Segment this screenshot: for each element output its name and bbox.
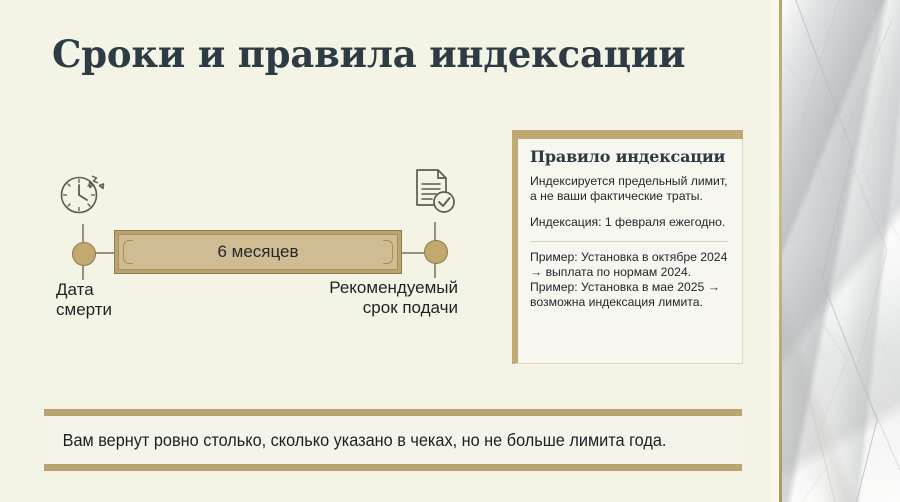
- timeline-end-caption-line1: Рекомендуемый: [252, 278, 458, 298]
- summary-banner-body: Вам вернут ровно столько, сколько указан…: [44, 416, 742, 464]
- indexation-rule-paragraph-2: Индексация: 1 февраля ежегодно.: [530, 215, 728, 230]
- timeline-end-caption-line2: срок подачи: [252, 298, 458, 318]
- document-check-icon: [408, 164, 462, 218]
- timeline-start-caption: Дата смерти: [56, 280, 112, 320]
- summary-banner-bottom-bar: [44, 464, 742, 471]
- timeline-start-caption-line1: Дата: [56, 280, 112, 300]
- timeline-node-end: [424, 240, 448, 264]
- indexation-rule-example-1: Пример: Установка в октябре 2024 → выпла…: [530, 250, 728, 280]
- timeline-node-start: [72, 242, 96, 266]
- indexation-rule-divider: [530, 241, 728, 242]
- timeline-graphic: 6 месяцев Дата смерти Рекомендуемый срок…: [52, 168, 512, 328]
- gold-vertical-divider: [779, 0, 782, 502]
- indexation-rule-paragraph-1: Индексируется предельный лимит, а не ваш…: [530, 174, 728, 204]
- duration-plaque-inner: 6 месяцев: [118, 234, 398, 270]
- summary-banner-text: Вам вернут ровно столько, сколько указан…: [44, 430, 666, 451]
- summary-banner-top-bar: [44, 409, 742, 416]
- indexation-rule-example-2: Пример: Установка в мае 2025 → возможна …: [530, 280, 728, 310]
- page-title: Сроки и правила индексации: [52, 32, 685, 76]
- clock-icon: [56, 168, 110, 222]
- timeline-start-caption-line2: смерти: [56, 300, 112, 320]
- indexation-rule-topbar: [512, 130, 743, 139]
- summary-banner: Вам вернут ровно столько, сколько указан…: [44, 409, 742, 471]
- marble-cream-gap: [771, 0, 779, 502]
- marble-texture-panel: [782, 0, 900, 502]
- indexation-rule-title: Правило индексации: [530, 147, 728, 166]
- duration-label: 6 месяцев: [217, 242, 298, 262]
- indexation-rule-card: Правило индексации Индексируется предель…: [512, 130, 743, 364]
- marble-vein-lines: [782, 0, 900, 502]
- duration-plaque: 6 месяцев: [114, 230, 402, 274]
- slide-root: Сроки и правила индексации: [0, 0, 900, 502]
- timeline-connector-right: [399, 252, 427, 254]
- indexation-rule-body: Правило индексации Индексируется предель…: [518, 131, 742, 320]
- timeline-end-caption: Рекомендуемый срок подачи: [252, 278, 458, 318]
